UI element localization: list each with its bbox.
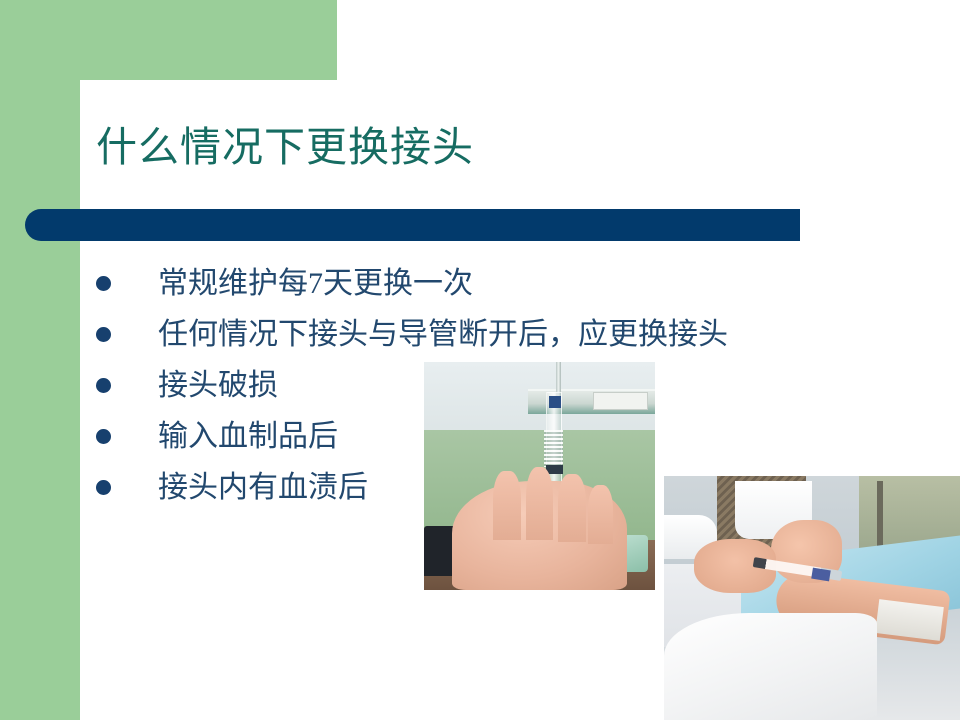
- list-item: 任何情况下接头与导管断开后，应更换接头: [96, 309, 896, 360]
- photo-connector-cap: [549, 396, 562, 407]
- photo-finger: [493, 471, 521, 539]
- photo-finger: [558, 474, 586, 542]
- bullet-dot-icon: [96, 378, 111, 393]
- photo-connector-hub: [811, 567, 830, 581]
- bullet-item-label: 接头内有血渍后: [158, 471, 368, 504]
- photo-finger: [526, 467, 554, 540]
- bullet-dot-icon: [96, 276, 111, 291]
- green-top-block-decoration: [0, 0, 337, 80]
- photo-finger: [588, 485, 613, 544]
- photo-bed-sheet-front: [664, 613, 877, 720]
- bullet-item-label: 常规维护每7天更换一次: [158, 267, 473, 300]
- presentation-slide: 什么情况下更换接头 常规维护每7天更换一次 任何情况下接头与导管断开后，应更换接…: [0, 0, 960, 720]
- photo-connector-ring: [546, 465, 562, 474]
- bullet-item-label: 输入血制品后: [158, 420, 338, 453]
- photo-metal-rod: [877, 481, 883, 554]
- list-item: 常规维护每7天更换一次: [96, 258, 896, 309]
- bullet-dot-icon: [96, 480, 111, 495]
- green-side-band-decoration: [0, 0, 80, 720]
- slide-title: 什么情况下更换接头: [96, 124, 474, 171]
- navy-title-underline-bar: [25, 209, 800, 241]
- bullet-item-label: 任何情况下接头与导管断开后，应更换接头: [158, 318, 728, 351]
- photo-syringe-grip: [544, 430, 562, 466]
- bullet-item-label: 接头破损: [158, 369, 278, 402]
- iv-injection-photo: [664, 476, 960, 720]
- bullet-dot-icon: [96, 327, 111, 342]
- photo-wall-socket: [593, 392, 648, 410]
- syringe-connector-photo: [424, 362, 655, 590]
- bullet-dot-icon: [96, 429, 111, 444]
